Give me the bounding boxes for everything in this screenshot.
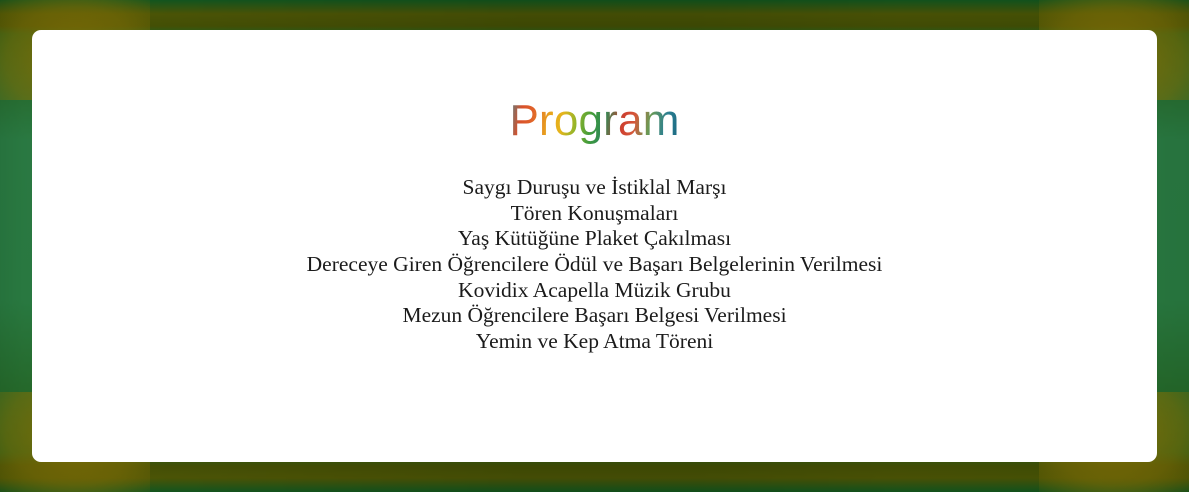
program-list-item: Yaş Kütüğüne Plaket Çakılması — [32, 226, 1157, 252]
program-list-item: Yemin ve Kep Atma Töreni — [32, 329, 1157, 355]
program-list-item: Kovidix Acapella Müzik Grubu — [32, 278, 1157, 304]
program-list-item: Saygı Duruşu ve İstiklal Marşı — [32, 175, 1157, 201]
presentation-slide: Program Saygı Duruşu ve İstiklal Marşı T… — [0, 0, 1189, 492]
program-list-item: Dereceye Giren Öğrencilere Ödül ve Başar… — [32, 252, 1157, 278]
slide-content-card: Program Saygı Duruşu ve İstiklal Marşı T… — [32, 30, 1157, 462]
program-list-item: Mezun Öğrencilere Başarı Belgesi Verilme… — [32, 303, 1157, 329]
program-list-item: Tören Konuşmaları — [32, 201, 1157, 227]
slide-content: Program Saygı Duruşu ve İstiklal Marşı T… — [32, 30, 1157, 354]
slide-title: Program — [509, 30, 679, 144]
program-list: Saygı Duruşu ve İstiklal Marşı Tören Kon… — [32, 144, 1157, 354]
